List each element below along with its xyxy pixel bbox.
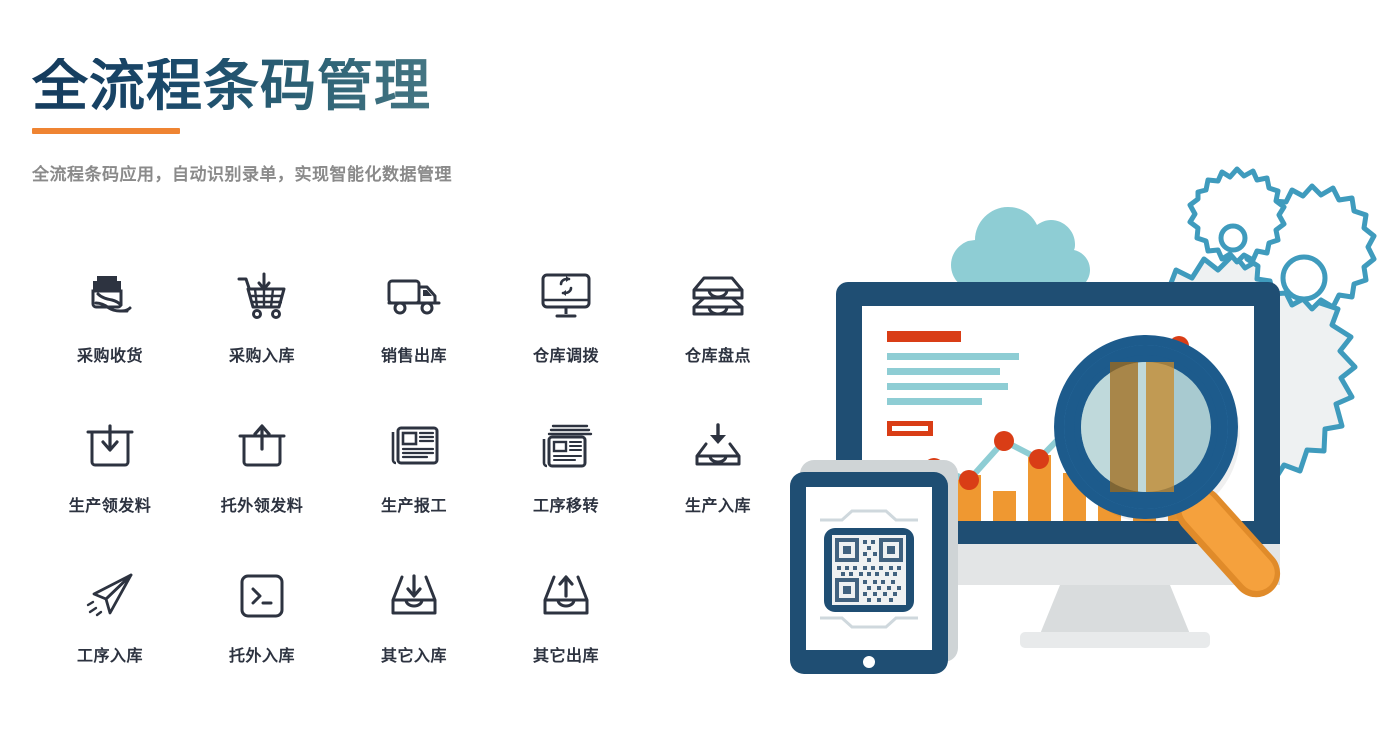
monitor-transfer-arrows-icon: [538, 268, 594, 324]
barcode-analytics-illustration: [780, 150, 1378, 680]
grid-item-purchase-instock[interactable]: 采购入库: [186, 268, 338, 418]
grid-item-process-transfer[interactable]: 工序移转: [490, 418, 642, 568]
grid-item-label: 托外入库: [229, 642, 295, 666]
grid-item-label: 其它入库: [381, 642, 447, 666]
grid-item-label: 仓库调拨: [533, 342, 599, 366]
qr-code: [824, 528, 914, 612]
document-button: [887, 421, 933, 436]
grid-item-production-instock[interactable]: 生产入库: [642, 418, 794, 568]
grid-item-label: 仓库盘点: [685, 342, 751, 366]
inbox-down-arrow-icon: [386, 568, 442, 624]
gear-small: [1190, 169, 1284, 262]
tray-down-arrow-icon: [690, 418, 746, 474]
document-heading: [887, 331, 961, 342]
grid-item-process-instock[interactable]: 工序入库: [34, 568, 186, 718]
paper-plane-icon: [82, 568, 138, 624]
terminal-prompt-icon: [234, 568, 290, 624]
heading-block: 全流程条码管理 全流程条码应用，自动识别录单，实现智能化数据管理: [32, 58, 452, 185]
grid-item-production-report[interactable]: 生产报工: [338, 418, 490, 568]
delivery-truck-icon: [386, 268, 442, 324]
cloud-shape: [951, 207, 1090, 290]
grid-item-production-issue[interactable]: 生产领发料: [34, 418, 186, 568]
grid-item-other-instock[interactable]: 其它入库: [338, 568, 490, 718]
grid-item-sales-outstock[interactable]: 销售出库: [338, 268, 490, 418]
title-underline-accent: [32, 128, 180, 134]
grid-item-warehouse-stocktake[interactable]: 仓库盘点: [642, 268, 794, 418]
grid-item-label: 托外领发料: [221, 492, 304, 516]
tablet-device: [790, 460, 958, 674]
grid-item-label: 生产报工: [381, 492, 447, 516]
newspaper-report-icon: [386, 418, 442, 474]
grid-item-label: 生产领发料: [69, 492, 152, 516]
grid-item-other-outstock[interactable]: 其它出库: [490, 568, 642, 718]
grid-item-purchase-receive[interactable]: 采购收货: [34, 268, 186, 418]
inbox-up-arrow-icon: [538, 568, 594, 624]
grid-item-outsource-instock[interactable]: 托外入库: [186, 568, 338, 718]
box-up-arrow-icon: [234, 418, 290, 474]
feature-icon-grid: 采购收货 采购入库: [34, 268, 794, 718]
grid-item-outsource-issue[interactable]: 托外领发料: [186, 418, 338, 568]
page-subtitle: 全流程条码应用，自动识别录单，实现智能化数据管理: [32, 160, 452, 185]
grid-item-label: 采购入库: [229, 342, 295, 366]
page-title: 全流程条码管理: [32, 58, 452, 114]
page-root: 全流程条码管理 全流程条码应用，自动识别录单，实现智能化数据管理 采购收货: [0, 0, 1378, 755]
grid-item-warehouse-transfer[interactable]: 仓库调拨: [490, 268, 642, 418]
grid-item-label: 工序入库: [77, 642, 143, 666]
grid-item-label: 生产入库: [685, 492, 751, 516]
grid-item-label: 销售出库: [381, 342, 447, 366]
newspaper-stack-icon: [538, 418, 594, 474]
grid-item-label: 工序移转: [533, 492, 599, 516]
grid-item-label: 其它出库: [533, 642, 599, 666]
stacked-trays-icon: [690, 268, 746, 324]
shopping-cart-down-arrow-icon: [234, 268, 290, 324]
grid-item-label: 采购收货: [77, 342, 143, 366]
box-down-arrow-icon: [82, 418, 138, 474]
hand-receive-package-icon: [82, 268, 138, 324]
